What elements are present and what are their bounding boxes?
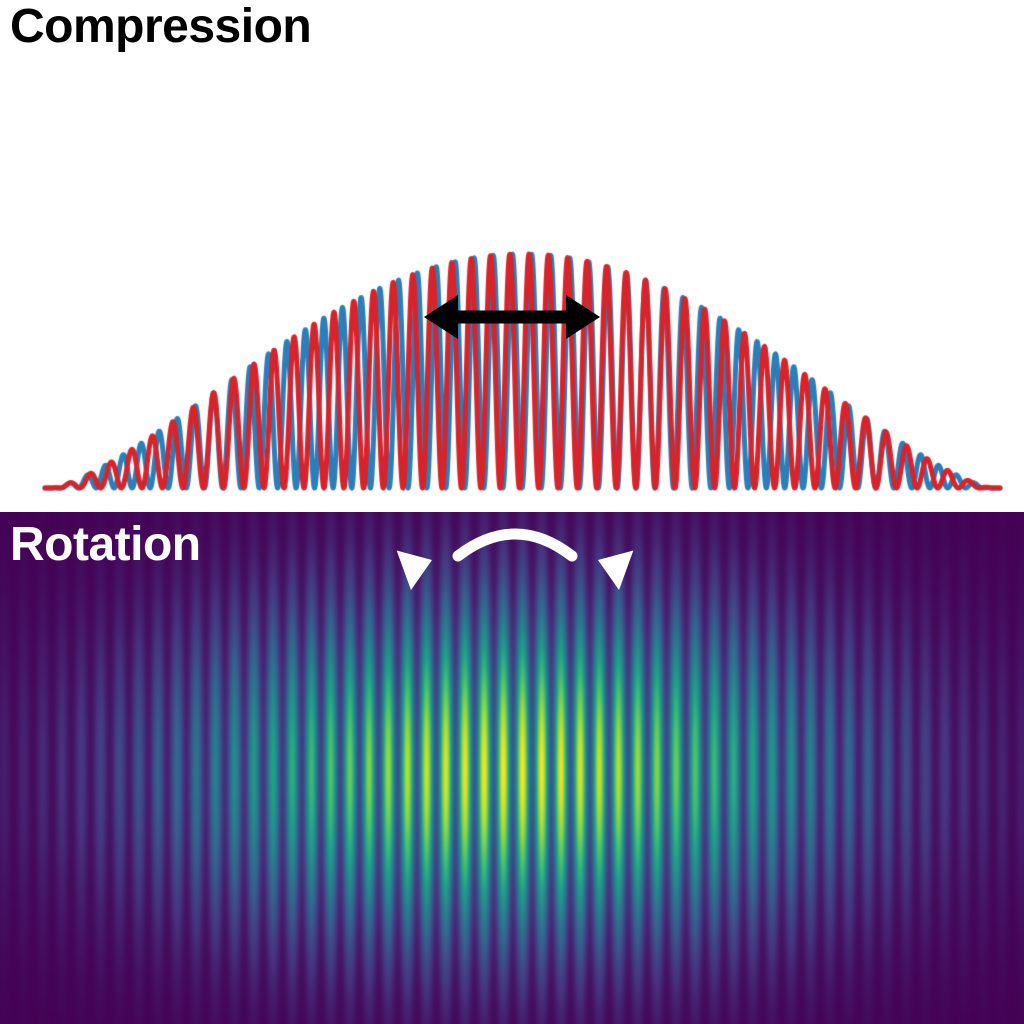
panel-title-rotation: Rotation [10, 520, 201, 570]
panel-title-compression: Compression [10, 2, 311, 52]
panel-compression: Compression [0, 0, 1024, 512]
compression-waveform-plot [0, 0, 1024, 512]
panel-rotation: Rotation [0, 512, 1024, 1024]
rotation-wigner-heatmap [0, 512, 1024, 1024]
figure-root: Compression Rotation [0, 0, 1024, 1024]
